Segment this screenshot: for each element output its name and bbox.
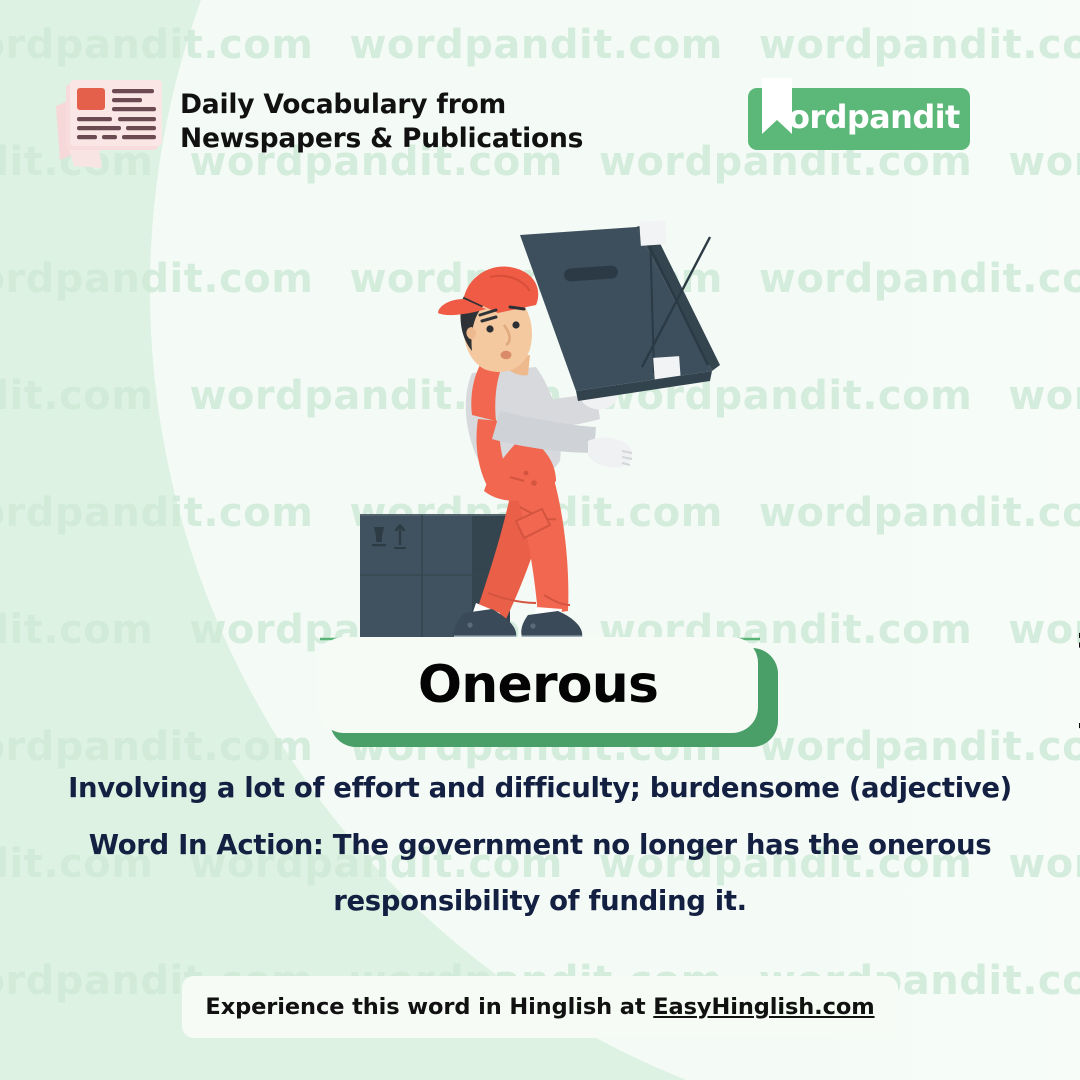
wordpandit-logo[interactable]: ordpandit (748, 88, 970, 150)
page-title: Daily Vocabulary from Newspapers & Publi… (180, 88, 583, 157)
vocabulary-word: Onerous (418, 655, 658, 715)
easyhinglish-link[interactable]: EasyHinglish.com (653, 994, 874, 1020)
worker-illustration (320, 215, 760, 655)
definition-block: Involving a lot of effort and difficulty… (0, 775, 1080, 945)
vocabulary-card: wordpandit.comwordpandit.comwordpandit.c… (0, 0, 1080, 1080)
footer-prefix: Experience this word in Hinglish at (205, 994, 653, 1020)
footer-bar[interactable]: Experience this word in Hinglish at Easy… (182, 976, 898, 1038)
headline-line-1: Daily Vocabulary from (180, 88, 583, 122)
logo-text: ordpandit (788, 98, 960, 136)
worker-shoes (453, 609, 582, 637)
word-in-action-line-2: responsibility of funding it. (0, 888, 1080, 916)
worker-head (438, 267, 538, 376)
newspaper-icon (52, 72, 170, 168)
heavy-box (520, 220, 720, 401)
definition-line: Involving a lot of effort and difficulty… (0, 775, 1080, 803)
side-watermark-text: wordpandit.com (1074, 540, 1080, 801)
headline-line-2: Newspapers & Publications (180, 122, 583, 156)
word-card: Onerous (318, 637, 778, 747)
header: Daily Vocabulary from Newspapers & Publi… (0, 0, 1080, 190)
word-in-action-line-1: Word In Action: The government no longer… (0, 832, 1080, 860)
footer-text: Experience this word in Hinglish at Easy… (205, 994, 874, 1020)
word-card-face: Onerous (318, 637, 758, 733)
